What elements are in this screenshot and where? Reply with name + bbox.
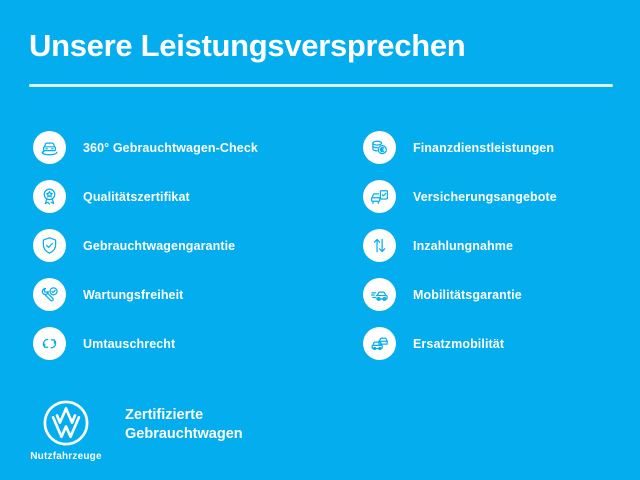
- feature-item[interactable]: 360° Gebrauchtwagen-Check: [33, 123, 330, 172]
- volkswagen-roundel-icon: [41, 398, 91, 448]
- car-clipboard-check-icon: [363, 180, 396, 213]
- feature-item[interactable]: Inzahlungnahme: [363, 221, 640, 270]
- coins-euro-icon: [363, 131, 396, 164]
- page-title: Unsere Leistungsversprechen: [29, 30, 465, 63]
- exchange-arrows-icon: [33, 327, 66, 360]
- arrows-up-down-icon: [363, 229, 396, 262]
- promo-poster: Unsere Leistungsversprechen 360° Gebrauc…: [0, 0, 640, 480]
- feature-item[interactable]: Qualitätszertifikat: [33, 172, 330, 221]
- feature-label: Ersatzmobilität: [413, 337, 504, 351]
- feature-column-right: Finanzdienstleistungen Versicherungsange…: [330, 123, 640, 368]
- feature-item[interactable]: Gebrauchtwagengarantie: [33, 221, 330, 270]
- title-divider: [29, 84, 613, 87]
- feature-label: Mobilitätsgarantie: [413, 288, 522, 302]
- feature-item[interactable]: Umtauschrecht: [33, 319, 330, 368]
- feature-item[interactable]: Versicherungsangebote: [363, 172, 640, 221]
- brand-claim-line2: Gebrauchtwagen: [125, 425, 243, 444]
- brand-sub-label: Nutzfahrzeuge: [30, 451, 102, 462]
- feature-label: Qualitätszertifikat: [83, 190, 190, 204]
- feature-label: Umtauschrecht: [83, 337, 175, 351]
- car-speed-icon: [363, 278, 396, 311]
- wrench-check-icon: [33, 278, 66, 311]
- feature-label: Gebrauchtwagengarantie: [83, 239, 235, 253]
- feature-label: Wartungsfreiheit: [83, 288, 183, 302]
- feature-label: 360° Gebrauchtwagen-Check: [83, 141, 258, 155]
- award-rosette-icon: [33, 180, 66, 213]
- feature-item[interactable]: Finanzdienstleistungen: [363, 123, 640, 172]
- car-360-check-icon: [33, 131, 66, 164]
- shield-check-icon: [33, 229, 66, 262]
- brand-claim: Zertifizierte Gebrauchtwagen: [125, 406, 243, 444]
- feature-column-left: 360° Gebrauchtwagen-Check Qualitätszerti…: [0, 123, 330, 368]
- feature-item[interactable]: Mobilitätsgarantie: [363, 270, 640, 319]
- feature-label: Inzahlungnahme: [413, 239, 513, 253]
- brand-mark: Nutzfahrzeuge: [29, 398, 103, 462]
- feature-label: Versicherungsangebote: [413, 190, 557, 204]
- two-cars-icon: [363, 327, 396, 360]
- feature-item[interactable]: Wartungsfreiheit: [33, 270, 330, 319]
- brand-claim-line1: Zertifizierte: [125, 406, 243, 425]
- brand-lockup: Nutzfahrzeuge Zertifizierte Gebrauchtwag…: [29, 398, 243, 462]
- feature-columns: 360° Gebrauchtwagen-Check Qualitätszerti…: [0, 123, 640, 368]
- feature-item[interactable]: Ersatzmobilität: [363, 319, 640, 368]
- feature-label: Finanzdienstleistungen: [413, 141, 554, 155]
